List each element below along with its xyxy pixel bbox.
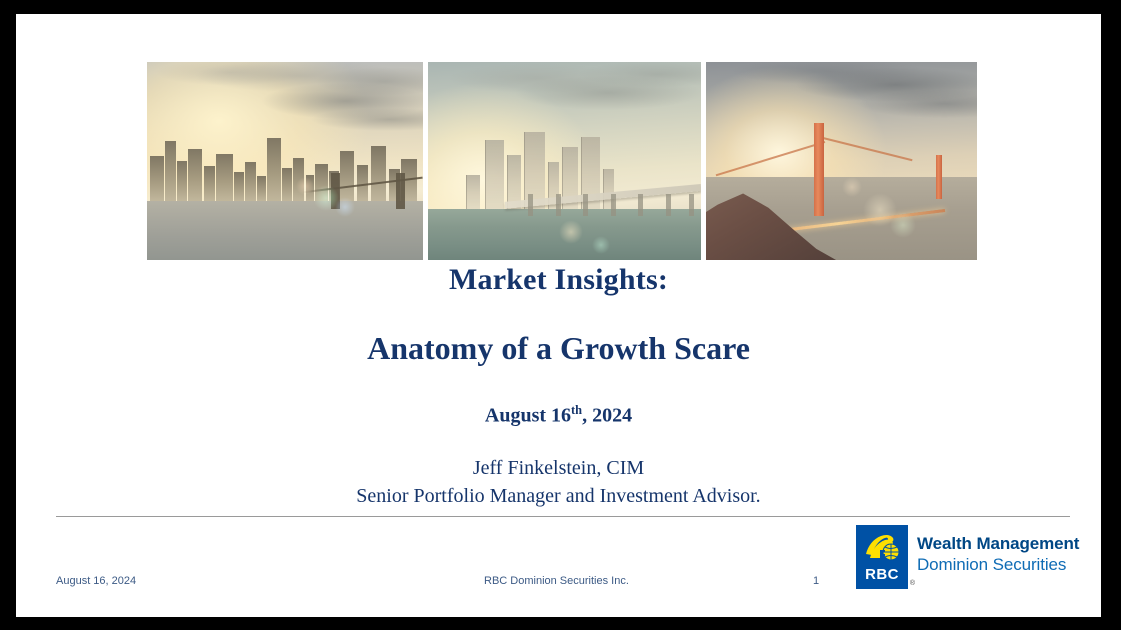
rbc-shield-icon: RBC ® [856,525,908,589]
water-layer [147,201,423,260]
slide-date-main: August 16 [485,405,571,427]
title-image-strip [147,62,977,260]
image-miami-causeway-sunset [428,62,701,260]
rbc-wordmark-line1: Wealth Management [917,534,1079,555]
image-golden-gate-bridge-sunset [706,62,977,260]
image-new-york-skyline-sunset [147,62,423,260]
brooklyn-bridge [302,173,423,209]
causeway-bridge [504,177,701,217]
presenter-name: Jeff Finkelstein, CIM [16,454,1101,482]
slide-date: August 16th, 2024 [16,403,1101,428]
presenter-role: Senior Portfolio Manager and Investment … [16,482,1101,510]
footer-page-number: 1 [813,575,819,587]
title-text-block: Market Insights: Anatomy of a Growth Sca… [16,262,1101,511]
rbc-wordmark: Wealth Management Dominion Securities [917,534,1079,579]
footer-company-name: RBC Dominion Securities Inc. [484,575,629,587]
slide-title: Market Insights: [16,262,1101,298]
slide-date-year: , 2024 [582,405,632,427]
footer-divider [56,516,1070,517]
footer-date: August 16, 2024 [56,575,136,587]
presentation-slide: Market Insights: Anatomy of a Growth Sca… [16,14,1101,617]
registered-trademark-icon: ® [910,580,915,587]
rbc-logo-lockup: RBC ® Wealth Management Dominion Securit… [856,525,1079,589]
rbc-shield-label: RBC [856,566,908,583]
rbc-wordmark-line2: Dominion Securities [917,555,1079,576]
slide-subtitle: Anatomy of a Growth Scare [16,329,1101,367]
presenter-block: Jeff Finkelstein, CIM Senior Portfolio M… [16,454,1101,511]
slide-date-ordinal: th [571,403,582,417]
